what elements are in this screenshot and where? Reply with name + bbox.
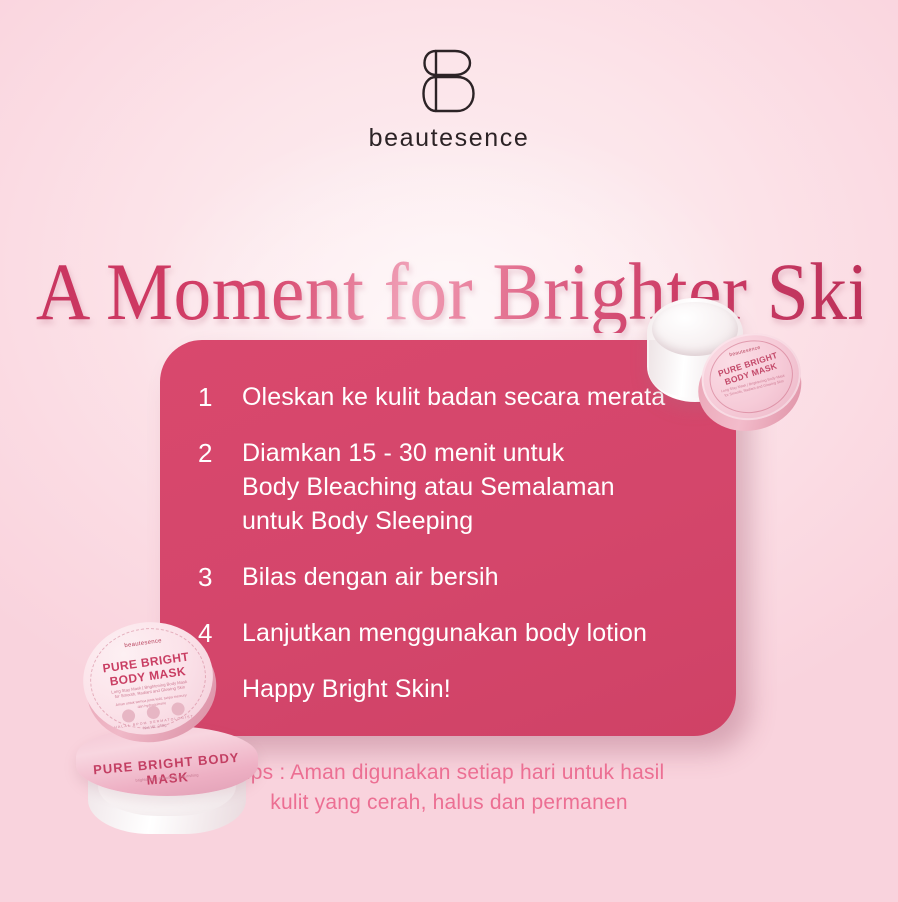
product-image-top-right: beautesence PURE BRIGHT BODY MASK Long S… (641, 296, 809, 438)
step-text: Oleskan ke kulit badan secara merata (242, 380, 665, 414)
halal-icon (121, 709, 136, 724)
list-item: 2 Diamkan 15 - 30 menit untuk Body Bleac… (198, 436, 710, 538)
list-item: 5 Happy Bright Skin! (198, 672, 710, 706)
step-number: 1 (198, 380, 242, 414)
lid-top-face: beautesence PURE BRIGHT BODY MASK Long S… (76, 614, 220, 743)
promo-poster: beautesence A Moment for Brighter Skin 1… (0, 0, 898, 902)
list-item: 4 Lanjutkan menggunakan body lotion (198, 616, 710, 650)
product-image-bottom-left: PURE BRIGHT BODY MASK brightening | smoo… (72, 622, 268, 838)
step-text: Lanjutkan menggunakan body lotion (242, 616, 647, 650)
step-text: Happy Bright Skin! (242, 672, 451, 706)
brand-name: beautesence (0, 124, 898, 153)
step-number: 3 (198, 560, 242, 594)
b-monogram-icon (422, 48, 476, 114)
step-text: Diamkan 15 - 30 menit untuk Body Bleachi… (242, 436, 615, 538)
jar-lid: beautesence PURE BRIGHT BODY MASK Long S… (76, 613, 226, 756)
steps-list: 1 Oleskan ke kulit badan secara merata 2… (198, 380, 710, 706)
list-item: 3 Bilas dengan air bersih (198, 560, 710, 594)
list-item: 1 Oleskan ke kulit badan secara merata (198, 380, 710, 414)
step-number: 2 (198, 436, 242, 470)
step-text: Bilas dengan air bersih (242, 560, 499, 594)
dermatologist-icon (170, 702, 185, 717)
bpom-icon (146, 705, 161, 720)
brand-logo: beautesence (0, 48, 898, 153)
